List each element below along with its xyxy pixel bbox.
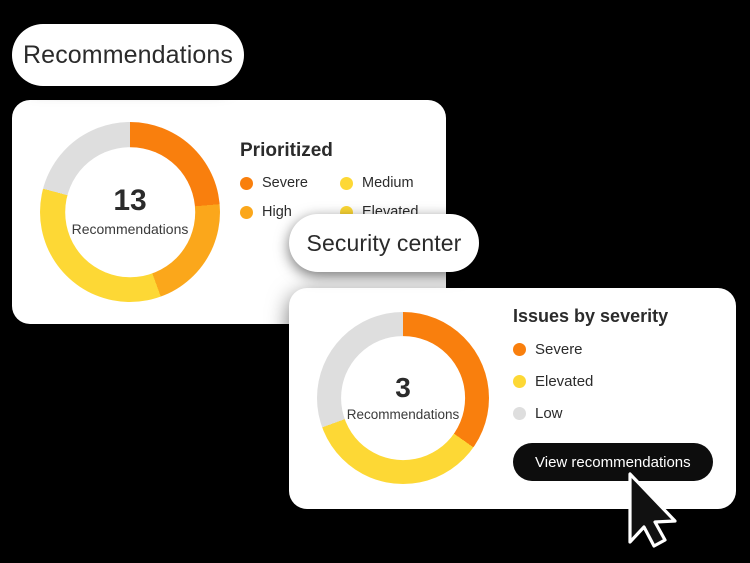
legend-label-sec-severe: Severe — [535, 341, 583, 358]
legend-label-sec-low: Low — [535, 405, 563, 422]
card-security-center: 3 Recommendations Issues by severity Sev… — [289, 288, 736, 509]
legend-item-severe[interactable]: Severe — [240, 175, 340, 191]
view-recommendations-button[interactable]: View recommendations — [513, 443, 713, 481]
legend-security: Issues by severity Severe Elevated Low — [513, 306, 728, 437]
legend-dot-medium-icon — [340, 177, 353, 190]
legend-item-sec-severe[interactable]: Severe — [513, 341, 728, 358]
badge-security-center[interactable]: Security center — [289, 214, 479, 272]
legend-dot-high-icon — [240, 206, 253, 219]
badge-recommendations-label: Recommendations — [23, 41, 233, 70]
legend-title-prioritized: Prioritized — [240, 140, 440, 162]
legend-item-sec-elevated[interactable]: Elevated — [513, 373, 728, 390]
screenshot-stage: Recommendations 13 Recommendations Prior… — [0, 0, 750, 563]
legend-item-sec-low[interactable]: Low — [513, 405, 728, 422]
legend-item-medium[interactable]: Medium — [340, 175, 440, 191]
legend-dot-severe-icon — [240, 177, 253, 190]
legend-label-medium: Medium — [362, 175, 414, 191]
legend-title-security: Issues by severity — [513, 306, 728, 327]
legend-label-sec-elevated: Elevated — [535, 373, 593, 390]
legend-dot-sec-elevated-icon — [513, 375, 526, 388]
donut-center-prioritized: 13 Recommendations — [65, 147, 195, 277]
legend-dot-sec-severe-icon — [513, 343, 526, 356]
legend-dot-sec-low-icon — [513, 407, 526, 420]
donut-ring-security: 3 Recommendations — [317, 312, 489, 484]
donut-center-security: 3 Recommendations — [341, 336, 465, 460]
donut-label-security: Recommendations — [347, 407, 460, 422]
legend-items-security: Severe Elevated Low — [513, 341, 728, 437]
donut-chart-security: 3 Recommendations — [317, 312, 489, 484]
donut-label-prioritized: Recommendations — [72, 222, 189, 238]
legend-label-high: High — [262, 204, 292, 220]
donut-value-security: 3 — [395, 374, 411, 402]
donut-chart-prioritized: 13 Recommendations — [40, 122, 220, 302]
badge-security-center-label: Security center — [307, 230, 462, 257]
badge-recommendations[interactable]: Recommendations — [12, 24, 244, 86]
donut-ring-prioritized: 13 Recommendations — [40, 122, 220, 302]
donut-value-prioritized: 13 — [113, 187, 146, 217]
legend-label-severe: Severe — [262, 175, 308, 191]
